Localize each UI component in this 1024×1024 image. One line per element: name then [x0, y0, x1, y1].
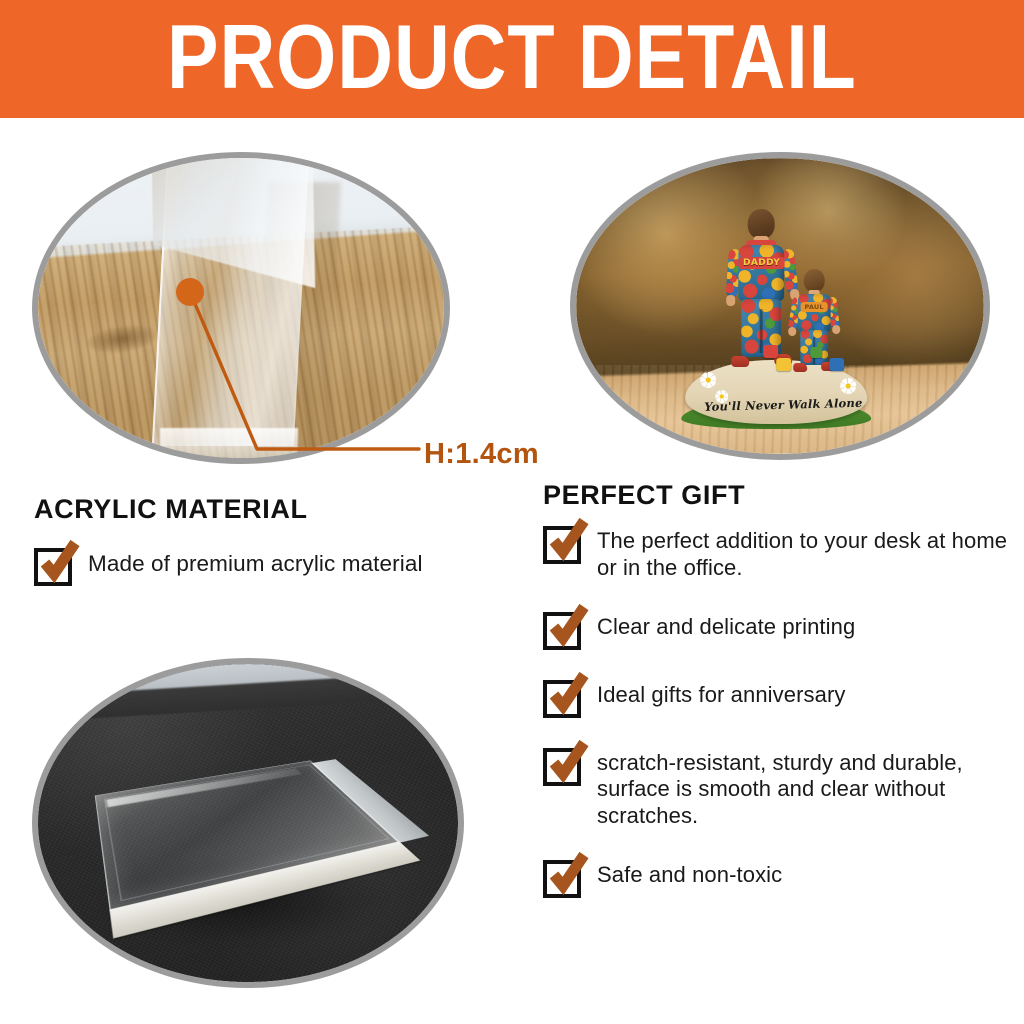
feature-text: Ideal gifts for anniversary — [597, 678, 845, 709]
checkbox-checked-icon — [34, 548, 72, 586]
dimension-label-height: H:1.4cm — [424, 438, 539, 471]
page-header-banner: PRODUCT DETAIL — [0, 0, 1024, 118]
child-left-hand — [788, 327, 796, 336]
checkmark-icon — [544, 517, 592, 565]
feature-item: Safe and non-toxic — [543, 858, 1013, 898]
feature-item: scratch-resistant, sturdy and durable, s… — [543, 746, 1013, 830]
checkmark-icon — [35, 539, 83, 587]
photo-acrylic-block-inner — [38, 664, 458, 982]
puzzle-piece-green-icon — [810, 347, 822, 358]
checkbox-checked-icon — [543, 612, 581, 650]
feature-text: Safe and non-toxic — [597, 858, 782, 889]
puzzle-piece-blue-icon — [830, 358, 845, 371]
checkmark-icon — [544, 671, 592, 719]
checkmark-icon — [544, 851, 592, 899]
figurine-standee: DADDY PAUL You'll Never Walk Alone — [681, 209, 871, 424]
product-photo-acrylic-block — [32, 658, 464, 988]
feature-text: scratch-resistant, sturdy and durable, s… — [597, 746, 1013, 830]
feature-item: Ideal gifts for anniversary — [543, 678, 1013, 718]
feature-text: Clear and delicate printing — [597, 610, 855, 641]
daisy-flower-icon — [715, 390, 728, 403]
page-title: PRODUCT DETAIL — [167, 11, 857, 106]
father-jacket — [739, 245, 785, 301]
father-left-hand — [727, 295, 736, 306]
feature-item: The perfect addition to your desk at hom… — [543, 524, 1013, 582]
photo-acrylic-edge-inner — [38, 158, 444, 458]
acrylic-bottom-edge — [160, 428, 298, 458]
checkmark-icon — [544, 739, 592, 787]
child-head — [804, 269, 825, 292]
product-photo-acrylic-edge — [32, 152, 450, 464]
daisy-flower-icon — [840, 378, 856, 394]
feature-list-acrylic-material: Made of premium acrylic material — [34, 546, 514, 608]
checkbox-checked-icon — [543, 526, 581, 564]
feature-item: Clear and delicate printing — [543, 610, 1013, 650]
father-name-label: DADDY — [739, 257, 784, 269]
section-title-acrylic-material: ACRYLIC MATERIAL — [34, 494, 308, 525]
checkbox-checked-icon — [543, 860, 581, 898]
feature-list-perfect-gift: The perfect addition to your desk at hom… — [543, 524, 1013, 926]
child-name-label: PAUL — [800, 302, 827, 312]
photo-figurine-inner: DADDY PAUL You'll Never Walk Alone — [576, 158, 984, 454]
father-head — [748, 209, 775, 239]
child-jacket — [798, 294, 831, 332]
puzzle-piece-yellow-icon — [776, 358, 791, 371]
child-left-shoe — [793, 363, 807, 372]
puzzle-piece-red-icon — [763, 345, 778, 358]
feature-item: Made of premium acrylic material — [34, 546, 514, 586]
father-left-shoe — [732, 356, 750, 367]
checkbox-checked-icon — [543, 680, 581, 718]
feature-text: Made of premium acrylic material — [88, 546, 423, 577]
product-photo-figurine: DADDY PAUL You'll Never Walk Alone — [570, 152, 990, 460]
child-right-hand — [832, 325, 840, 334]
figurine-father: DADDY — [731, 209, 793, 369]
checkmark-icon — [544, 603, 592, 651]
section-title-perfect-gift: PERFECT GIFT — [543, 480, 745, 511]
feature-text: The perfect addition to your desk at hom… — [597, 524, 1013, 582]
checkbox-checked-icon — [543, 748, 581, 786]
